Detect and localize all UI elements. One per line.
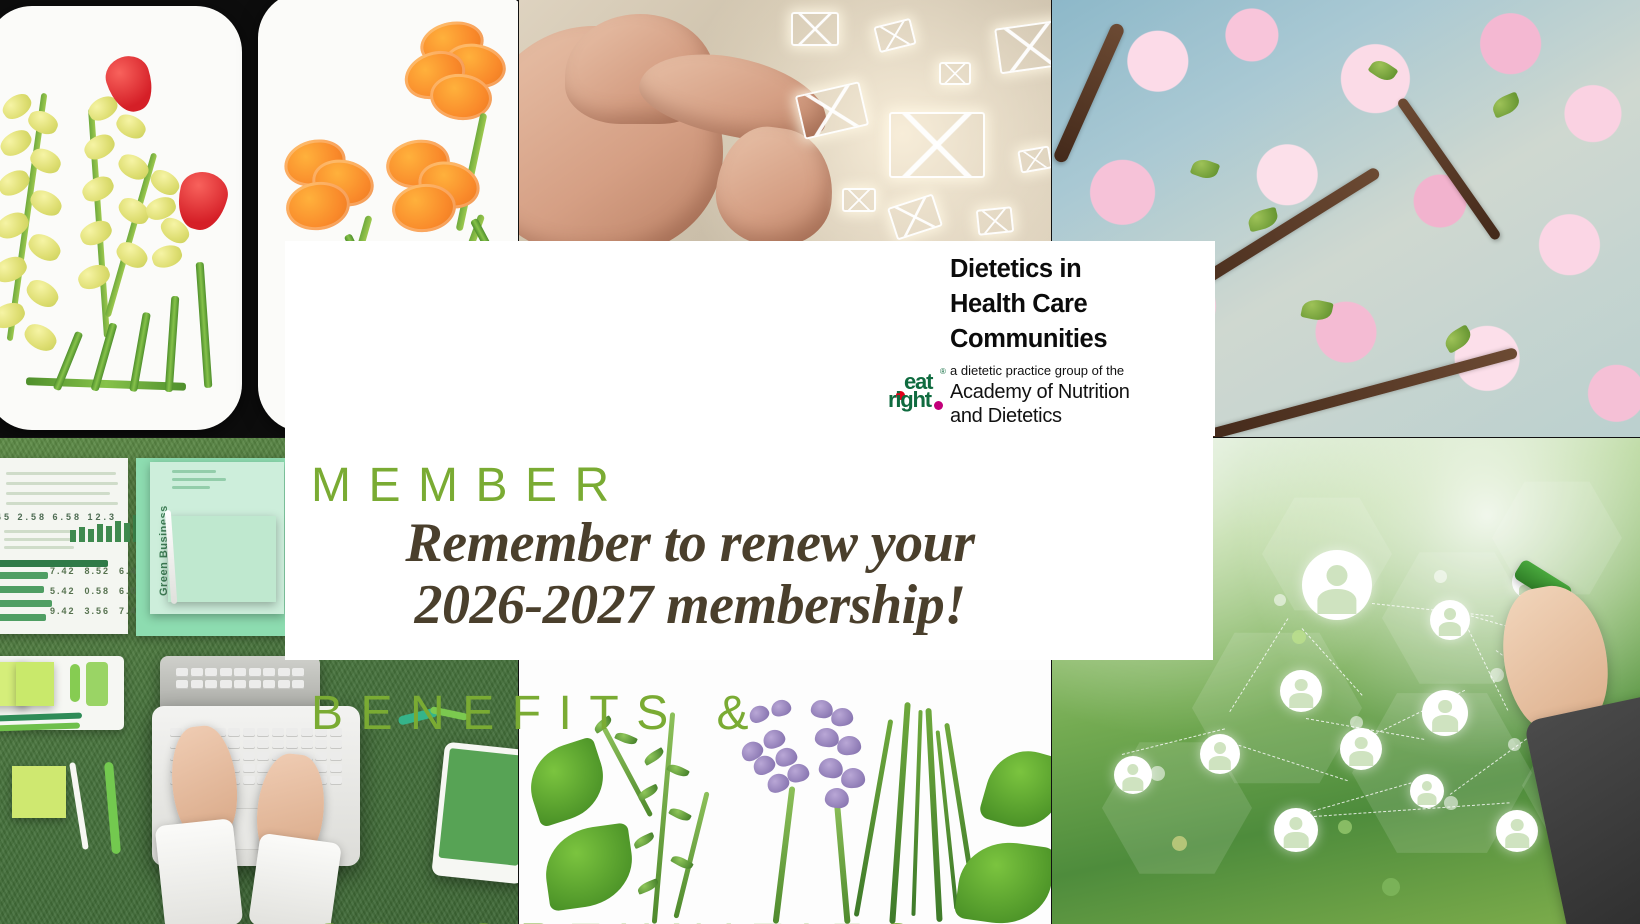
leaf <box>1441 324 1474 354</box>
person-node-icon <box>1496 810 1538 852</box>
envelope-icon <box>887 193 943 240</box>
eat-right-magenta-dot-icon <box>934 401 943 410</box>
email-envelopes-photo <box>519 0 1051 243</box>
logo-subtitle: a dietetic practice group of the <box>950 363 1200 379</box>
stapler <box>86 662 108 706</box>
envelope-icon <box>994 20 1051 75</box>
logo-title-line-2: Health Care <box>950 287 1200 322</box>
tree-branch <box>1197 347 1519 437</box>
academy-line-2: and Dietetics <box>950 404 1200 428</box>
person-node-icon <box>1430 600 1470 640</box>
eat-right-logo: eat right ® <box>888 369 950 417</box>
rubber-bands <box>70 664 80 702</box>
shirt-sleeve <box>155 818 244 924</box>
tree-branch <box>1052 22 1126 165</box>
envelope-icon <box>976 206 1015 236</box>
renewal-line-1: Remember to renew your <box>285 512 1095 574</box>
headline-line-2: BENEFITS & <box>311 676 930 752</box>
thumb <box>709 121 840 243</box>
headline-line-3: OPPORTUNITIES <box>311 904 930 924</box>
person-node-icon <box>1280 670 1322 712</box>
renewal-message: Remember to renew your 2026-2027 members… <box>285 512 1095 636</box>
leaf <box>1367 56 1398 85</box>
person-node-icon <box>1340 728 1382 770</box>
sticky-note <box>12 766 66 818</box>
dhcc-logo-lockup: Dietetics in Health Care Communities a d… <box>950 252 1200 428</box>
academy-name: Academy of Nutrition and Dietetics <box>950 380 1200 428</box>
mint-leaf <box>978 741 1051 836</box>
person-node-icon <box>1302 550 1372 620</box>
envelope-icon <box>842 188 876 212</box>
logo-title-line-3: Communities <box>950 322 1200 357</box>
leaf <box>1300 297 1334 323</box>
tree-branch <box>1396 97 1502 242</box>
member-benefits-banner: 45 2.58 6.58 12.3 7.42 8.52 6.47 5.42 0.… <box>0 0 1640 924</box>
leaf <box>1490 91 1523 118</box>
white-pencil <box>69 762 89 850</box>
person-node-icon <box>1114 756 1152 794</box>
mini-bar-chart <box>70 512 139 542</box>
person-node-icon <box>1410 774 1444 808</box>
leaf <box>1190 156 1221 182</box>
green-pen <box>104 762 121 854</box>
envelope-icon <box>791 12 839 46</box>
envelope-icon <box>1017 145 1051 173</box>
envelope-icon <box>873 18 916 53</box>
envelope-icon <box>939 62 971 85</box>
green-pencil <box>0 723 80 732</box>
logo-title-line-1: Dietetics in <box>950 252 1200 287</box>
academy-line-1: Academy of Nutrition <box>950 380 1200 404</box>
person-node-icon <box>1274 808 1318 852</box>
envelope-icon <box>889 112 985 178</box>
eat-right-word-right: right <box>888 387 931 413</box>
renewal-line-2: 2026-2027 membership! <box>285 574 1095 636</box>
person-node-icon <box>1422 690 1468 736</box>
registered-mark: ® <box>940 367 946 376</box>
person-node-icon <box>1200 734 1240 774</box>
logo-title: Dietetics in Health Care Communities <box>950 252 1200 357</box>
